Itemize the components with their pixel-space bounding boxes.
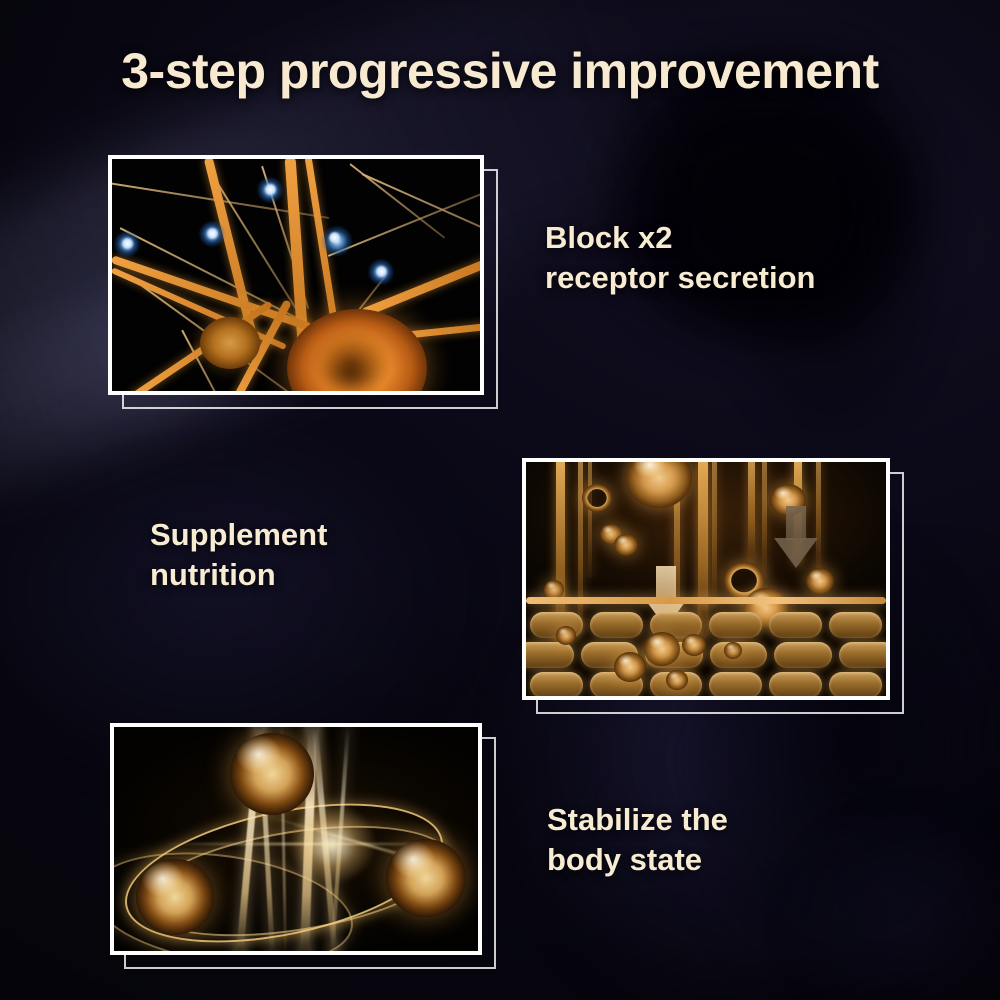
neuron-secondary-soma [200, 317, 260, 369]
cell-block [829, 672, 882, 696]
step-1-photo-frame [108, 155, 484, 395]
step-3-caption-line2: body state [547, 842, 702, 877]
step-3-image-card [110, 723, 482, 955]
step-1-caption-line1: Block x2 [545, 220, 673, 255]
capsule [136, 859, 214, 935]
synapse-node [195, 217, 229, 251]
step-2-caption-line2: nutrition [150, 557, 276, 592]
step-1-image-card [108, 155, 484, 395]
step-3-caption-line1: Stabilize the [547, 802, 728, 837]
nutrient-droplet [666, 670, 688, 690]
nutrient-droplet [614, 534, 638, 556]
cell-block [709, 612, 762, 638]
neuron-nucleus [320, 349, 382, 391]
capsule-energy-illustration [114, 727, 478, 951]
step-1-caption-line2: receptor secretion [545, 260, 816, 295]
nutrient-absorption-illustration [526, 462, 886, 696]
neuron-illustration [112, 159, 480, 391]
cell-block [769, 672, 822, 696]
cell-block [530, 672, 583, 696]
step-3-caption: Stabilize thebody state [547, 800, 728, 881]
page-title: 3-step progressive improvement [0, 42, 1000, 100]
cell-layer-row [526, 642, 886, 668]
step-2-caption: Supplementnutrition [150, 515, 327, 596]
nutrient-droplet [556, 626, 576, 645]
cell-block [590, 612, 643, 638]
nutrient-droplet [724, 642, 742, 659]
nutrient-droplet [582, 484, 612, 512]
synapse-node [364, 255, 398, 289]
cell-block [709, 672, 762, 696]
cell-layer-row [526, 612, 886, 638]
cell-block [774, 642, 832, 668]
promo-poster: 3-step progressive improvement [0, 0, 1000, 1000]
cell-membrane [526, 597, 886, 604]
capsule [230, 733, 314, 815]
step-2-photo-frame [522, 458, 890, 700]
step-2-caption-line1: Supplement [150, 517, 327, 552]
nutrient-droplet [614, 652, 646, 682]
cell-block [839, 642, 887, 668]
synapse-node [317, 221, 357, 261]
nutrient-droplet [682, 634, 706, 656]
cell-block [769, 612, 822, 638]
step-1-caption: Block x2receptor secretion [545, 218, 816, 299]
nutrient-droplet [806, 568, 834, 594]
nutrient-droplet [644, 632, 680, 666]
cell-block [829, 612, 882, 638]
step-2-image-card [522, 458, 890, 700]
capsule [386, 839, 466, 917]
step-3-photo-frame [110, 723, 482, 955]
synapse-node [253, 173, 287, 207]
cell-layer-row [526, 672, 886, 696]
absorption-arrow [774, 506, 818, 568]
cell-block [526, 642, 574, 668]
